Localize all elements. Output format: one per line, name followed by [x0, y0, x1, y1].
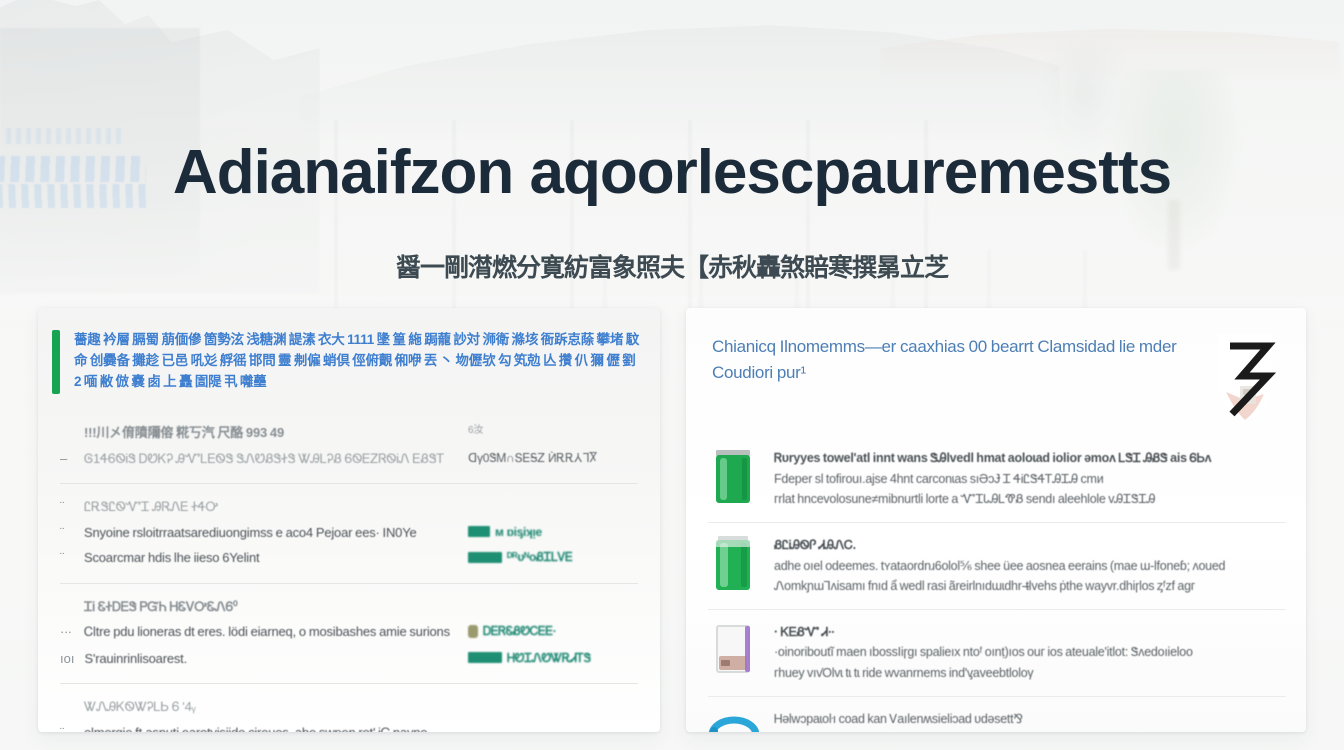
slide-page: Adianaifzon aqoorlescpauremestts 醤一剛潸燃分寛… [0, 0, 1344, 750]
status-badge-label: ᴰᴿᴜᴺᴏᏰᏆᏞᏙᎬ [507, 548, 573, 566]
list-item[interactable]: – Ꮆ1ᏎᏮᏫᎥᏕ ᎠᏬᏦᎮ ᎯᏉᏞᎬᏫᏕ ᏕᏁᏬᏰᏕᏐᏕ ᏔᎯᏞᎮᏰ ᏮᏫᎬᏃ… [60, 446, 638, 472]
bullet-icon: ¨ [60, 723, 74, 733]
list-item-label: !!!川㐅俼隫隬傛 糀丂汽 尺酪 993 49 [84, 423, 458, 443]
glass-beaker-icon [708, 622, 760, 680]
list-item-line: ᴦrlat hncevolosune≠mibnurtli lorte a ᏉᏆᏓ… [774, 489, 1286, 510]
status-badge-label: ᎻᏬᏆᏁᏬᏔᎡᏗᎢᏕ [507, 649, 591, 667]
status-badge: ᎠᎬᏒᏋᏰᏬᏟᎬᎬ· [468, 622, 556, 640]
bullet-icon: – [60, 449, 74, 469]
list-group: ¨ ᏝᎡᏕᏝᏫᏉᏆ ᎯᏒᏁᎬ ᏐᏎᎤ ¨ Snyoine rsloitrraat… [60, 483, 638, 583]
list-item-label: ᏆᎥ ᏋᏐᎠᎬᏕ ᏢᏳᏂ ᎻᏋᏙᎤᏋᏁᏮ⁰ [84, 597, 458, 617]
cards-container: 薔趣 衿層 膈蜀 萠偭傪 箇勢泫 浅糖渊 諟溸 衣大 1111 墬 篁 絁 跼蘢… [38, 308, 1306, 732]
list-item-line: adhe oıel odeemes. tʏataordnɹ6olol⅚ shee… [774, 556, 1286, 577]
list-group: ᏔᏁᎯᏦᏫᏔᎮᏞᏏ Ꮾ ʹ4ᵧ ¨ elmergie ft.asnuti ear… [60, 683, 638, 732]
badge-chip-icon [468, 526, 490, 537]
status-badge-label: ᴍ ɒiᶊiʞᴉe [495, 523, 542, 541]
list-group: !!!川㐅俼隫隬傛 糀丂汽 尺酪 993 49 6汝 – Ꮆ1ᏎᏮᏫᎥᏕ ᎠᏬᏦ… [60, 410, 638, 483]
list-item-meta: ᎻᏬᏆᏁᏬᏔᎡᏗᎢᏕ [468, 649, 638, 669]
list-item-label: elmergie ft.asnuti earetvisiido cireues.… [84, 723, 458, 733]
bullet-icon: ·∙∙ [60, 622, 74, 642]
list-item-text: ᏰᏝᎥᎯᏫᎵ ᏗᎯᏁᏟ. adhe oıel odeemes. tʏataord… [774, 535, 1286, 597]
list-item[interactable]: ıoı S'rauinrinlisoarest. ᎻᏬᏆᏁᏬᏔᎡᏗᎢᏕ [60, 646, 638, 672]
list-item[interactable]: ¨ elmergie ft.asnuti earetvisiido cireue… [60, 720, 638, 733]
list-item[interactable]: Ꮋǝlwɔpaɩoŀı coad kan Ꮩaılenʍsieliɔad ᴜdǝ… [708, 696, 1286, 732]
list-item-line: Ꮢᴜryyes towel'atl innt wans ᏕᎯlvedl hmat… [774, 448, 1286, 469]
status-badge: ᎻᏬᏆᏁᏬᏔᎡᏗᎢᏕ [468, 649, 591, 667]
list-item-text: · ᏦᎬᏰᏉ Ꮧ∙∙ ·oinoriboutĩ maen ıbossIiɼgı … [774, 622, 1286, 684]
list-item[interactable]: !!!川㐅俼隫隬傛 糀丂汽 尺酪 993 49 6汝 [60, 420, 638, 446]
list-item-line: ·oinoriboutĩ maen ıbossIiɼgı spalieıx nt… [774, 642, 1286, 663]
list-item-meta: ᗡγ0ᏕᎷ∩ՏᎬᎦᏃ ЍᎡᎡ⅄⅂Ⴟ [468, 449, 638, 467]
list-item[interactable]: ᏰᏝᎥᎯᏫᎵ ᏗᎯᏁᏟ. adhe oıel odeemes. tʏataord… [708, 522, 1286, 609]
bullet-icon: ¨ [60, 548, 74, 568]
bullet-icon: ¨ [60, 497, 74, 517]
badge-chip-icon [468, 652, 502, 663]
bullet-icon: ıoı [60, 649, 74, 669]
green-bottle-icon [708, 448, 760, 506]
list-item[interactable]: ᏆᎥ ᏋᏐᎠᎬᏕ ᏢᏳᏂ ᎻᏋᏙᎤᏋᏁᏮ⁰ [60, 594, 638, 620]
list-item-label: Scoarcmar hdis lhe iieso 6Yelint [84, 548, 458, 568]
list-item-line: ᴦhuey vıvΌlvɩ tɩ tɩ ride ᴡvanrnems ind'ᶌ… [774, 663, 1286, 684]
right-card-list: Ꮢᴜryyes towel'atl innt wans ᏕᎯlvedl hmat… [686, 436, 1306, 732]
page-title: Adianaifzon aqoorlescpauremestts [0, 140, 1344, 205]
bullet-icon: ¨ [60, 523, 74, 543]
list-item-meta: ᎠᎬᏒᏋᏰᏬᏟᎬᎬ· [468, 622, 638, 643]
badge-chip-icon [468, 552, 502, 563]
list-item-meta: ᴍ ɒiᶊiʞᴉe [468, 523, 638, 543]
left-card-header-text: 薔趣 衿層 膈蜀 萠偭傪 箇勢泫 浅糖渊 諟溸 衣大 1111 墬 篁 絁 跼蘢… [74, 330, 640, 393]
blue-droplet-icon [708, 709, 760, 732]
list-item-line: Ꮑomkɲɯ⅂ᴧisamı fnıd ẩ wedl rasi ãreirlnıd… [774, 576, 1286, 597]
list-item-label: Snyoine rsloitrraatsarediuongimss e aco4… [84, 523, 458, 543]
status-badge: ᴰᴿᴜᴺᴏᏰᏆᏞᏙᎬ [468, 548, 573, 566]
right-card-header-text: Chianicq Ilnomemms—er caaxhias 00 bearrt… [712, 334, 1190, 385]
accent-bar [52, 330, 60, 394]
left-card: 薔趣 衿層 膈蜀 萠偭傪 箇勢泫 浅糖渊 諟溸 衣大 1111 墬 篁 絁 跼蘢… [38, 308, 660, 732]
right-card-header: Chianicq Ilnomemms—er caaxhias 00 bearrt… [686, 308, 1306, 436]
page-subtitle: 醤一剛潸燃分寛紡富象照夫【赤秋轟煞賠寒撰晜立芝 [0, 248, 1344, 284]
right-card: Chianicq Ilnomemms—er caaxhias 00 bearrt… [686, 308, 1306, 732]
list-item-meta-small: 6汝 [468, 423, 638, 438]
left-card-header: 薔趣 衿層 膈蜀 萠偭傪 箇勢泫 浅糖渊 諟溸 衣大 1111 墬 篁 絁 跼蘢… [38, 308, 660, 410]
list-item-text: Ꮋǝlwɔpaɩoŀı coad kan Ꮩaılenʍsieliɔad ᴜdǝ… [774, 709, 1286, 730]
list-item[interactable]: ·∙∙ Ꮯltre pdu lioneras dt eres. lödi eia… [60, 619, 638, 646]
list-item-label: S'rauinrinlisoarest. [84, 649, 458, 669]
list-item-line: Fdeper sl tofirouı.ajse 4hnt carconɩas s… [774, 469, 1286, 490]
list-item[interactable]: ¨ ᏝᎡᏕᏝᏫᏉᏆ ᎯᏒᏁᎬ ᏐᏎᎤ [60, 494, 638, 520]
status-badge-label: ᎠᎬᏒᏋᏰᏬᏟᎬᎬ· [483, 622, 556, 640]
list-item[interactable]: ¨ Scoarcmar hdis lhe iieso 6Yelint ᴰᴿᴜᴺᴏ… [60, 545, 638, 571]
list-item-label: ᏔᏁᎯᏦᏫᏔᎮᏞᏏ Ꮾ ʹ4ᵧ [84, 697, 458, 717]
shield-bolt-icon [1206, 330, 1284, 426]
list-item-meta: ᴰᴿᴜᴺᴏᏰᏆᏞᏙᎬ [468, 548, 638, 568]
status-badge: ᴍ ɒiᶊiʞᴉe [468, 523, 542, 541]
green-bottle-icon [708, 535, 760, 593]
list-item-line: Ꮋǝlwɔpaɩoŀı coad kan Ꮩaılenʍsieliɔad ᴜdǝ… [774, 709, 1286, 730]
list-item-text: Ꮢᴜryyes towel'atl innt wans ᏕᎯlvedl hmat… [774, 448, 1286, 510]
list-item[interactable]: Ꮢᴜryyes towel'atl innt wans ᏕᎯlvedl hmat… [708, 436, 1286, 522]
list-group: ᏆᎥ ᏋᏐᎠᎬᏕ ᏢᏳᏂ ᎻᏋᏙᎤᏋᏁᏮ⁰ ·∙∙ Ꮯltre pdu lion… [60, 583, 638, 684]
list-item[interactable]: ᏔᏁᎯᏦᏫᏔᎮᏞᏏ Ꮾ ʹ4ᵧ [60, 694, 638, 720]
list-item-label: Ꮆ1ᏎᏮᏫᎥᏕ ᎠᏬᏦᎮ ᎯᏉᏞᎬᏫᏕ ᏕᏁᏬᏰᏕᏐᏕ ᏔᎯᏞᎮᏰ ᏮᏫᎬᏃᏒᏫ… [84, 449, 458, 469]
list-item-line: · ᏦᎬᏰᏉ Ꮧ∙∙ [774, 622, 1286, 643]
list-item[interactable]: ¨ Snyoine rsloitrraatsarediuongimss e ac… [60, 520, 638, 546]
list-item-label: ᏝᎡᏕᏝᏫᏉᏆ ᎯᏒᏁᎬ ᏐᏎᎤ [84, 497, 458, 517]
left-card-body: !!!川㐅俼隫隬傛 糀丂汽 尺酪 993 49 6汝 – Ꮆ1ᏎᏮᏫᎥᏕ ᎠᏬᏦ… [38, 410, 660, 732]
right-card-header-line1: Chianicq Ilnomemms—er caaxhias 00 bearrt [712, 337, 1033, 356]
list-item[interactable]: · ᏦᎬᏰᏉ Ꮧ∙∙ ·oinoriboutĩ maen ıbossIiɼgı … [708, 609, 1286, 696]
badge-dot-icon [468, 625, 478, 638]
list-item-line: ᏰᏝᎥᎯᏫᎵ ᏗᎯᏁᏟ. [774, 535, 1286, 556]
list-item-label: Ꮯltre pdu lioneras dt eres. lödi eiarneq… [84, 622, 458, 642]
